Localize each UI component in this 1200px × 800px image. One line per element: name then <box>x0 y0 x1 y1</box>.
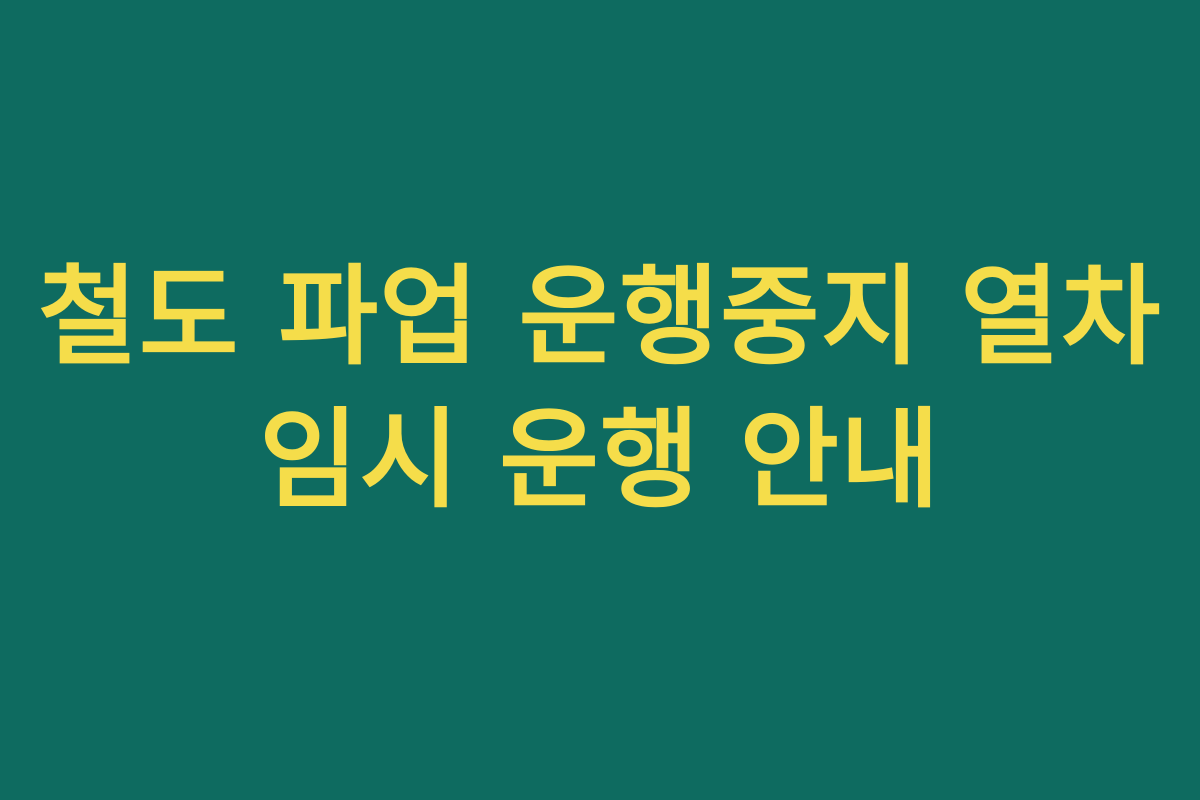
headline-line-1: 철도 파업 운행중지 열차 <box>20 247 1180 390</box>
notice-banner: 철도 파업 운행중지 열차 임시 운행 안내 <box>0 0 1200 800</box>
headline-block: 철도 파업 운행중지 열차 임시 운행 안내 <box>20 247 1180 532</box>
headline-line-2: 임시 운행 안내 <box>20 390 1180 533</box>
